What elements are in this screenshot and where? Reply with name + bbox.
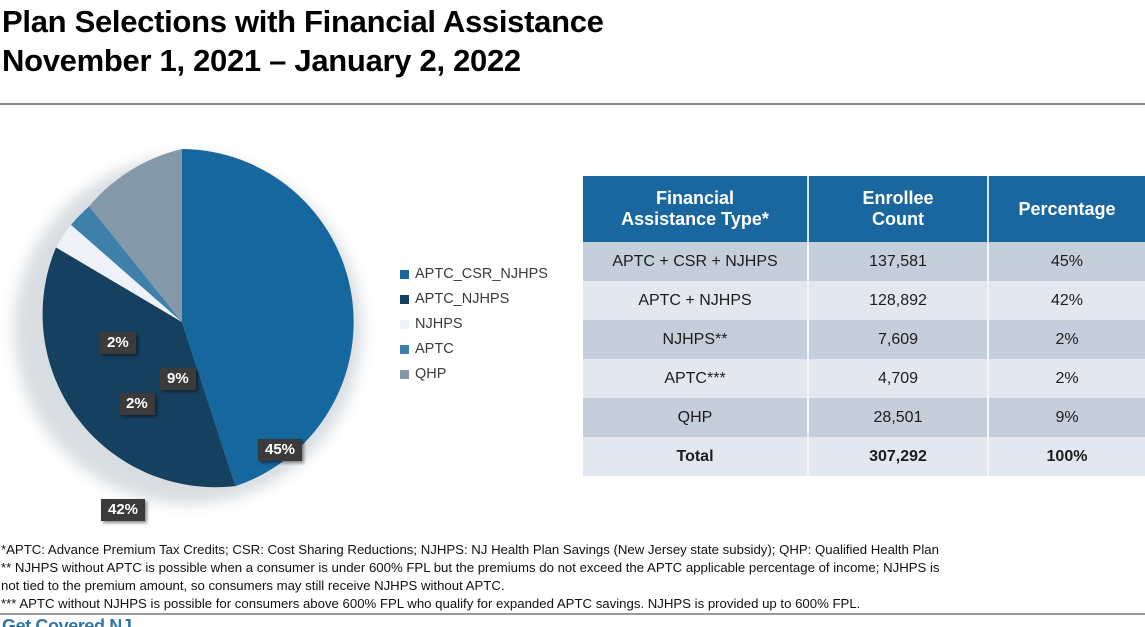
- legend-label: APTC_NJHPS: [415, 292, 509, 307]
- pie-label-aptc-njhps: 42%: [101, 499, 145, 521]
- table-total-row: Total 307,292 100%: [583, 437, 1145, 476]
- financial-assistance-table: Financial Assistance Type* Enrollee Coun…: [583, 176, 1145, 476]
- page-title-line-1: Plan Selections with Financial Assistanc…: [0, 2, 1145, 41]
- legend-label: NJHPS: [415, 317, 463, 332]
- cell-enrollee-count: 128,892: [808, 281, 988, 320]
- legend-label: APTC_CSR_NJHPS: [415, 267, 548, 282]
- get-covered-nj-logo: Get Covered NJ: [2, 616, 131, 627]
- footnotes: *APTC: Advance Premium Tax Credits; CSR:…: [0, 541, 1145, 613]
- legend-swatch-icon: [400, 295, 409, 304]
- chart-legend: APTC_CSR_NJHPS APTC_NJHPS NJHPS APTC QHP: [400, 262, 548, 387]
- footnote-1: *APTC: Advance Premium Tax Credits; CSR:…: [0, 541, 1145, 559]
- pie-slices: [8, 148, 356, 496]
- cell-assistance-type: APTC + NJHPS: [583, 281, 808, 320]
- financial-assistance-table-wrapper: Financial Assistance Type* Enrollee Coun…: [583, 176, 1145, 476]
- legend-item-qhp[interactable]: QHP: [400, 362, 548, 387]
- cell-total-count: 307,292: [808, 437, 988, 476]
- cell-percentage: 2%: [988, 359, 1145, 398]
- cell-percentage: 9%: [988, 398, 1145, 437]
- pie-label-qhp: 9%: [160, 368, 196, 390]
- cell-assistance-type: QHP: [583, 398, 808, 437]
- column-header-assistance-type: Financial Assistance Type*: [583, 176, 808, 242]
- legend-swatch-icon: [400, 370, 409, 379]
- legend-swatch-icon: [400, 270, 409, 279]
- table-header-row: Financial Assistance Type* Enrollee Coun…: [583, 176, 1145, 242]
- column-header-line-2: Assistance Type*: [621, 209, 769, 229]
- footnote-2-line-2: not tied to the premium amount, so consu…: [0, 577, 1145, 595]
- pie-label-aptc: 2%: [119, 393, 155, 415]
- cell-enrollee-count: 28,501: [808, 398, 988, 437]
- cell-enrollee-count: 7,609: [808, 320, 988, 359]
- legend-label: APTC: [415, 342, 454, 357]
- legend-item-aptc-csr-njhps[interactable]: APTC_CSR_NJHPS: [400, 262, 548, 287]
- table-row: QHP 28,501 9%: [583, 398, 1145, 437]
- column-header-enrollee-count: Enrollee Count: [808, 176, 988, 242]
- page-title-line-2: November 1, 2021 – January 2, 2022: [0, 41, 1145, 80]
- table-row: APTC + NJHPS 128,892 42%: [583, 281, 1145, 320]
- cell-percentage: 45%: [988, 242, 1145, 281]
- footer-divider: [0, 613, 1145, 615]
- title-divider: [0, 103, 1145, 105]
- column-header-line-1: Financial: [656, 188, 734, 208]
- legend-item-aptc-njhps[interactable]: APTC_NJHPS: [400, 287, 548, 312]
- legend-swatch-icon: [400, 345, 409, 354]
- footnote-2-line-1: ** NJHPS without APTC is possible when a…: [0, 559, 1145, 577]
- footnote-3: *** APTC without NJHPS is possible for c…: [0, 595, 1145, 613]
- cell-enrollee-count: 4,709: [808, 359, 988, 398]
- cell-assistance-type: APTC + CSR + NJHPS: [583, 242, 808, 281]
- legend-item-njhps[interactable]: NJHPS: [400, 312, 548, 337]
- legend-item-aptc[interactable]: APTC: [400, 337, 548, 362]
- table-row: NJHPS** 7,609 2%: [583, 320, 1145, 359]
- column-header-line-1: Enrollee: [862, 188, 933, 208]
- pie-label-aptc-csr-njhps: 45%: [258, 439, 302, 461]
- pie-chart-graphic: [8, 148, 356, 496]
- column-header-line-2: Count: [872, 209, 924, 229]
- pie-label-njhps: 2%: [100, 332, 136, 354]
- table-row: APTC + CSR + NJHPS 137,581 45%: [583, 242, 1145, 281]
- cell-total-label: Total: [583, 437, 808, 476]
- column-header-percentage: Percentage: [988, 176, 1145, 242]
- cell-assistance-type: APTC***: [583, 359, 808, 398]
- table-row: APTC*** 4,709 2%: [583, 359, 1145, 398]
- page-title: Plan Selections with Financial Assistanc…: [0, 2, 1145, 80]
- cell-percentage: 42%: [988, 281, 1145, 320]
- column-header-line-1: Percentage: [1018, 199, 1115, 219]
- legend-label: QHP: [415, 367, 446, 382]
- cell-assistance-type: NJHPS**: [583, 320, 808, 359]
- cell-total-percentage: 100%: [988, 437, 1145, 476]
- legend-swatch-icon: [400, 320, 409, 329]
- cell-percentage: 2%: [988, 320, 1145, 359]
- cell-enrollee-count: 137,581: [808, 242, 988, 281]
